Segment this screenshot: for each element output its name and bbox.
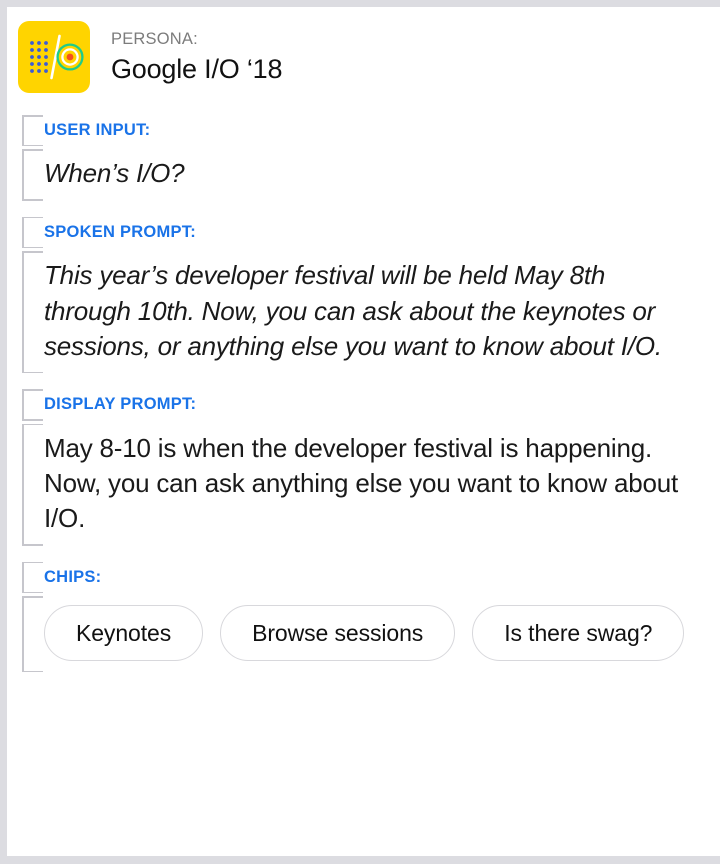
screenshot-canvas: PERSONA: Google I/O ‘18 USER INPUT: When… — [0, 0, 720, 864]
persona-header: PERSONA: Google I/O ‘18 — [7, 7, 720, 93]
section-spoken-prompt: SPOKEN PROMPT: This year’s developer fes… — [7, 217, 720, 374]
spoken-prompt-text: This year’s developer festival will be h… — [44, 258, 689, 364]
bracket-tick-bottom — [22, 145, 43, 147]
sections-list: USER INPUT: When’s I/O? SPOKEN PROMPT: — [7, 93, 720, 672]
bracket-tick-top — [22, 251, 43, 253]
bracket-tick-top — [22, 149, 43, 151]
spoken-prompt-body-bracket: This year’s developer festival will be h… — [22, 251, 720, 373]
chip-row: Keynotes Browse sessions Is there swag? — [44, 603, 720, 663]
bracket-tick-bottom — [22, 419, 43, 421]
bracket-tick-bottom — [22, 199, 43, 201]
spoken-prompt-label: SPOKEN PROMPT: — [44, 222, 720, 243]
bracket-tick-bottom — [22, 592, 43, 594]
display-prompt-body-bracket: May 8-10 is when the developer festival … — [22, 424, 720, 546]
bracket-tick-bottom — [22, 671, 43, 673]
bracket-tick-top — [22, 115, 43, 117]
display-prompt-text: May 8-10 is when the developer festival … — [44, 431, 689, 537]
user-input-body-bracket: When’s I/O? — [22, 149, 720, 200]
chip-is-there-swag[interactable]: Is there swag? — [472, 605, 684, 661]
bracket-tick-top — [22, 217, 43, 219]
bracket-tick-top — [22, 562, 43, 564]
bracket-tick-bottom — [22, 247, 43, 249]
persona-title: Google I/O ‘18 — [111, 53, 282, 85]
user-input-text: When’s I/O? — [44, 156, 689, 191]
chips-label: CHIPS: — [44, 567, 720, 588]
section-display-prompt: DISPLAY PROMPT: May 8-10 is when the dev… — [7, 389, 720, 546]
persona-kicker-label: PERSONA: — [111, 29, 282, 53]
chip-keynotes[interactable]: Keynotes — [44, 605, 203, 661]
chips-body-bracket: Keynotes Browse sessions Is there swag? — [22, 596, 720, 672]
google-io-logo-icon — [18, 21, 90, 93]
user-input-label-bracket: USER INPUT: — [22, 115, 720, 146]
chip-browse-sessions[interactable]: Browse sessions — [220, 605, 455, 661]
user-input-label: USER INPUT: — [44, 120, 720, 141]
bracket-tick-top — [22, 596, 43, 598]
bracket-tick-top — [22, 389, 43, 391]
persona-text-block: PERSONA: Google I/O ‘18 — [111, 29, 282, 85]
display-prompt-label: DISPLAY PROMPT: — [44, 394, 720, 415]
section-chips: CHIPS: Keynotes Browse sessions Is there… — [7, 562, 720, 672]
display-prompt-label-bracket: DISPLAY PROMPT: — [22, 389, 720, 420]
bracket-tick-bottom — [22, 544, 43, 546]
chips-label-bracket: CHIPS: — [22, 562, 720, 593]
persona-card: PERSONA: Google I/O ‘18 USER INPUT: When… — [7, 7, 720, 856]
bracket-tick-bottom — [22, 372, 43, 374]
spoken-prompt-label-bracket: SPOKEN PROMPT: — [22, 217, 720, 248]
section-user-input: USER INPUT: When’s I/O? — [7, 115, 720, 201]
bracket-tick-top — [22, 424, 43, 426]
